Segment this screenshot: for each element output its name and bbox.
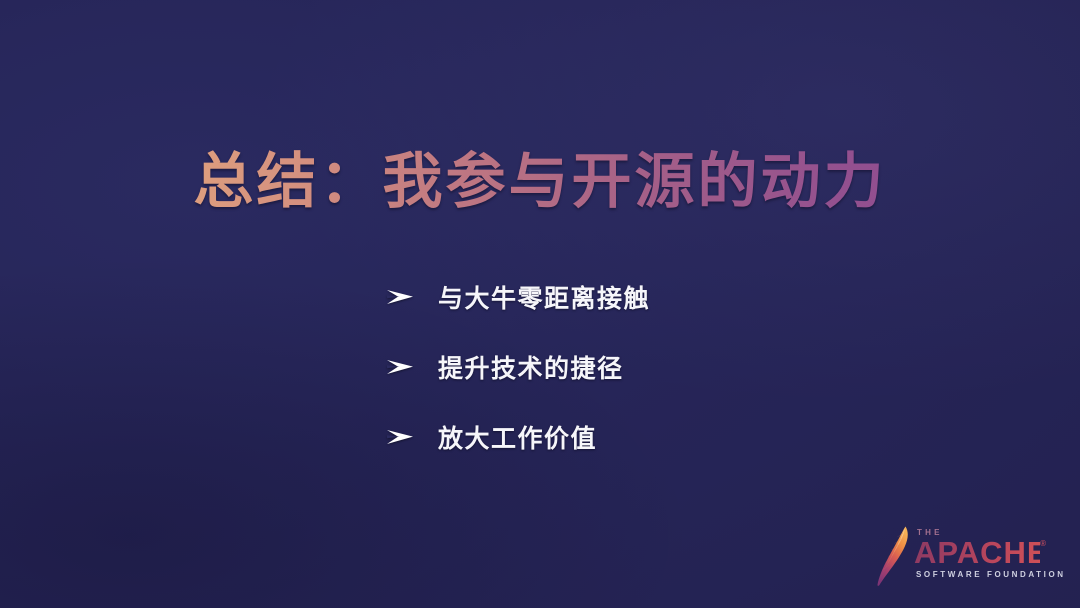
logo-tagline: SOFTWARE FOUNDATION — [916, 570, 1040, 579]
double-chevron-right-icon — [386, 354, 420, 380]
bullet-list: 与大牛零距离接触 提升技术的捷径 放大工作价值 — [386, 262, 906, 472]
list-item-label: 与大牛零距离接触 — [438, 279, 650, 315]
double-chevron-right-icon — [386, 424, 420, 450]
list-item-label: 提升技术的捷径 — [438, 349, 624, 385]
slide-canvas: 总结：我参与开源的动力 总结：我参与开源的动力 与大牛零距离接触 提升技术的捷径 — [0, 0, 1080, 608]
logo-apache-label: APACHE® — [914, 538, 1040, 567]
logo-apache-text: APACHE — [914, 535, 1049, 570]
list-item-label: 放大工作价值 — [438, 419, 597, 455]
list-item: 放大工作价值 — [386, 402, 906, 472]
list-item: 与大牛零距离接触 — [386, 262, 906, 332]
list-item: 提升技术的捷径 — [386, 332, 906, 402]
page-title: 总结：我参与开源的动力 — [0, 148, 1080, 215]
apache-software-foundation-logo: THE APACHE® SOFTWARE FOUNDATION — [872, 524, 1040, 590]
apache-feather-icon — [872, 524, 916, 588]
double-chevron-right-icon — [386, 284, 420, 310]
apache-wordmark: THE APACHE® SOFTWARE FOUNDATION — [914, 528, 1040, 579]
registered-trademark-icon: ® — [1040, 540, 1047, 548]
